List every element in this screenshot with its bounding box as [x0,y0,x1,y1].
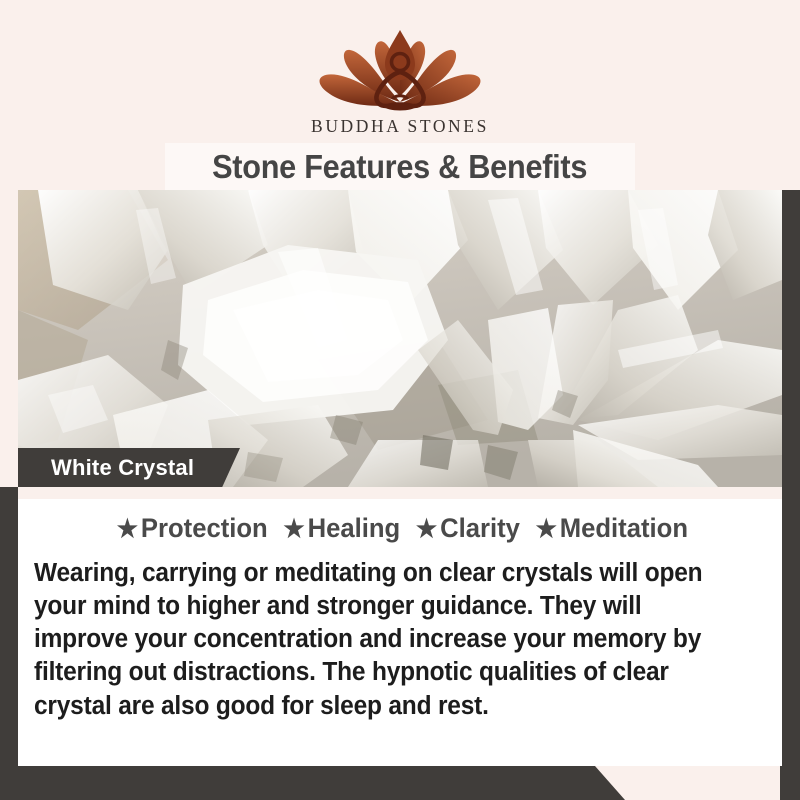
infographic-card: BUDDHA STONES Stone Features & Benefits [0,0,800,800]
frame-left-edge [0,487,18,800]
benefit-label-healing: Healing [308,513,401,543]
frame-bottom-band [0,766,625,800]
benefit-label-protection: Protection [141,513,268,543]
star-icon: ★ [416,515,437,543]
crystal-cluster-illustration [18,190,782,487]
star-icon: ★ [117,515,138,543]
brand-logo-block: BUDDHA STONES [0,22,800,137]
white-crystal-photo [18,190,782,487]
page-title: Stone Features & Benefits [212,148,587,186]
header: BUDDHA STONES Stone Features & Benefits [0,0,800,190]
brand-name: BUDDHA STONES [0,116,800,137]
description-text: Wearing, carrying or meditating on clear… [34,557,739,723]
benefit-label-meditation: Meditation [560,513,688,543]
benefits-list: ★Protection ★Healing ★Clarity ★Meditatio… [37,513,763,544]
title-plate: Stone Features & Benefits [165,143,635,190]
content-panel: ★Protection ★Healing ★Clarity ★Meditatio… [18,487,782,766]
photo-caption-banner: White Crystal [18,448,240,487]
lotus-meditation-figure-icon [307,22,493,114]
star-icon: ★ [283,515,304,543]
star-icon: ★ [536,515,557,543]
photo-caption-label: White Crystal [51,455,194,481]
benefit-label-clarity: Clarity [440,513,520,543]
